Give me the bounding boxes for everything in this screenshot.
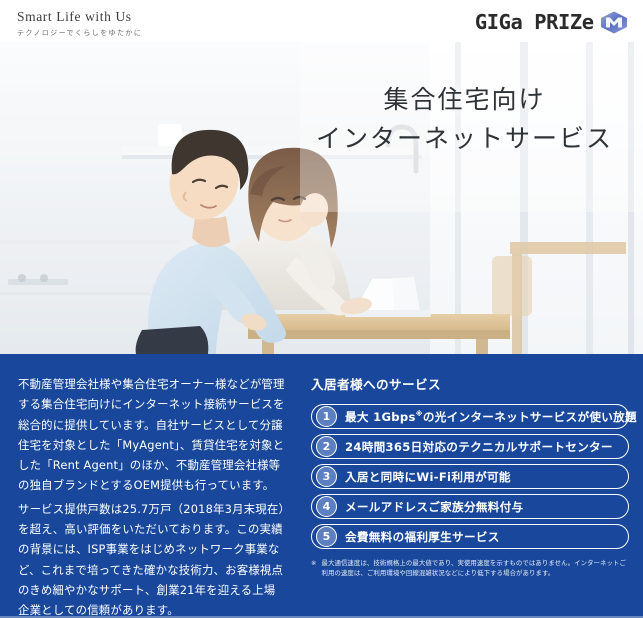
services-list: 1 最大 1Gbps※の光インターネットサービスが使い放題 2 24時間365日… (311, 404, 629, 549)
site-header: Smart Life with Us テクノロジーでくらしをゆたかに GIGa … (0, 0, 643, 42)
list-item[interactable]: 3 入居と同時にWi-Fi利用が可能 (311, 464, 629, 489)
services-footnote: ※ 最大通信速度は、技術規格上の最大値であり、実使用速度を示すものではありません… (311, 558, 629, 579)
service-label: メールアドレスご家族分無料付与 (345, 499, 523, 515)
info-panel: 不動産管理会社様や集合住宅オーナー様などが管理する集合住宅向けにインターネット接… (0, 354, 643, 618)
hero-title-line1: 集合住宅向け (316, 84, 613, 117)
company-description: 不動産管理会社様や集合住宅オーナー様などが管理する集合住宅向けにインターネット接… (18, 374, 286, 618)
gigaprize-logo-text: GIGa PRIZe (474, 10, 593, 34)
service-number-badge: 2 (316, 436, 337, 457)
brand-tagline-en: Smart Life with Us (17, 9, 142, 25)
service-label: 会費無料の福利厚生サービス (345, 529, 500, 545)
service-label-main: 最大 1Gbps (345, 410, 416, 424)
service-label: 入居と同時にWi-Fi利用が可能 (345, 469, 511, 485)
hero-photo: 集合住宅向け インターネットサービス (0, 42, 643, 354)
resident-services: 入居者様へのサービス 1 最大 1Gbps※の光インターネットサービスが使い放題… (311, 374, 629, 579)
footnote-text: 最大通信速度は、技術規格上の最大値であり、実使用速度を示すものではありません。イ… (321, 558, 629, 579)
service-number-badge: 4 (316, 496, 337, 517)
gigaprize-diamond-icon (599, 11, 629, 34)
service-label: 最大 1Gbps※の光インターネットサービスが使い放題 (345, 409, 637, 425)
list-item[interactable]: 1 最大 1Gbps※の光インターネットサービスが使い放題 (311, 404, 629, 429)
service-label-rest: の光インターネットサービスが使い放題 (423, 410, 637, 424)
brand-tagline-ja: テクノロジーでくらしをゆたかに (17, 28, 142, 38)
services-heading: 入居者様へのサービス (311, 374, 629, 393)
hero-title: 集合住宅向け インターネットサービス (316, 84, 613, 155)
description-paragraph-1: 不動産管理会社様や集合住宅オーナー様などが管理する集合住宅向けにインターネット接… (18, 374, 286, 496)
gigaprize-logo[interactable]: GIGa PRIZe (476, 10, 629, 34)
service-number-badge: 5 (316, 526, 337, 547)
hero-title-line2: インターネットサービス (316, 123, 613, 156)
footnote-mark: ※ (311, 558, 316, 579)
service-number-badge: 1 (316, 406, 337, 427)
page-root: Smart Life with Us テクノロジーでくらしをゆたかに GIGa … (0, 0, 643, 618)
service-label: 24時間365日対応のテクニカルサポートセンター (345, 439, 613, 455)
list-item[interactable]: 5 会費無料の福利厚生サービス (311, 524, 629, 549)
service-number-badge: 3 (316, 466, 337, 487)
brand-tagline: Smart Life with Us テクノロジーでくらしをゆたかに (17, 9, 142, 38)
footnote-marker: ※ (416, 410, 423, 418)
description-paragraph-2: サービス提供戸数は25.7万戸（2018年3月末現在）を超え、高い評価をいただい… (18, 499, 286, 618)
list-item[interactable]: 2 24時間365日対応のテクニカルサポートセンター (311, 434, 629, 459)
list-item[interactable]: 4 メールアドレスご家族分無料付与 (311, 494, 629, 519)
